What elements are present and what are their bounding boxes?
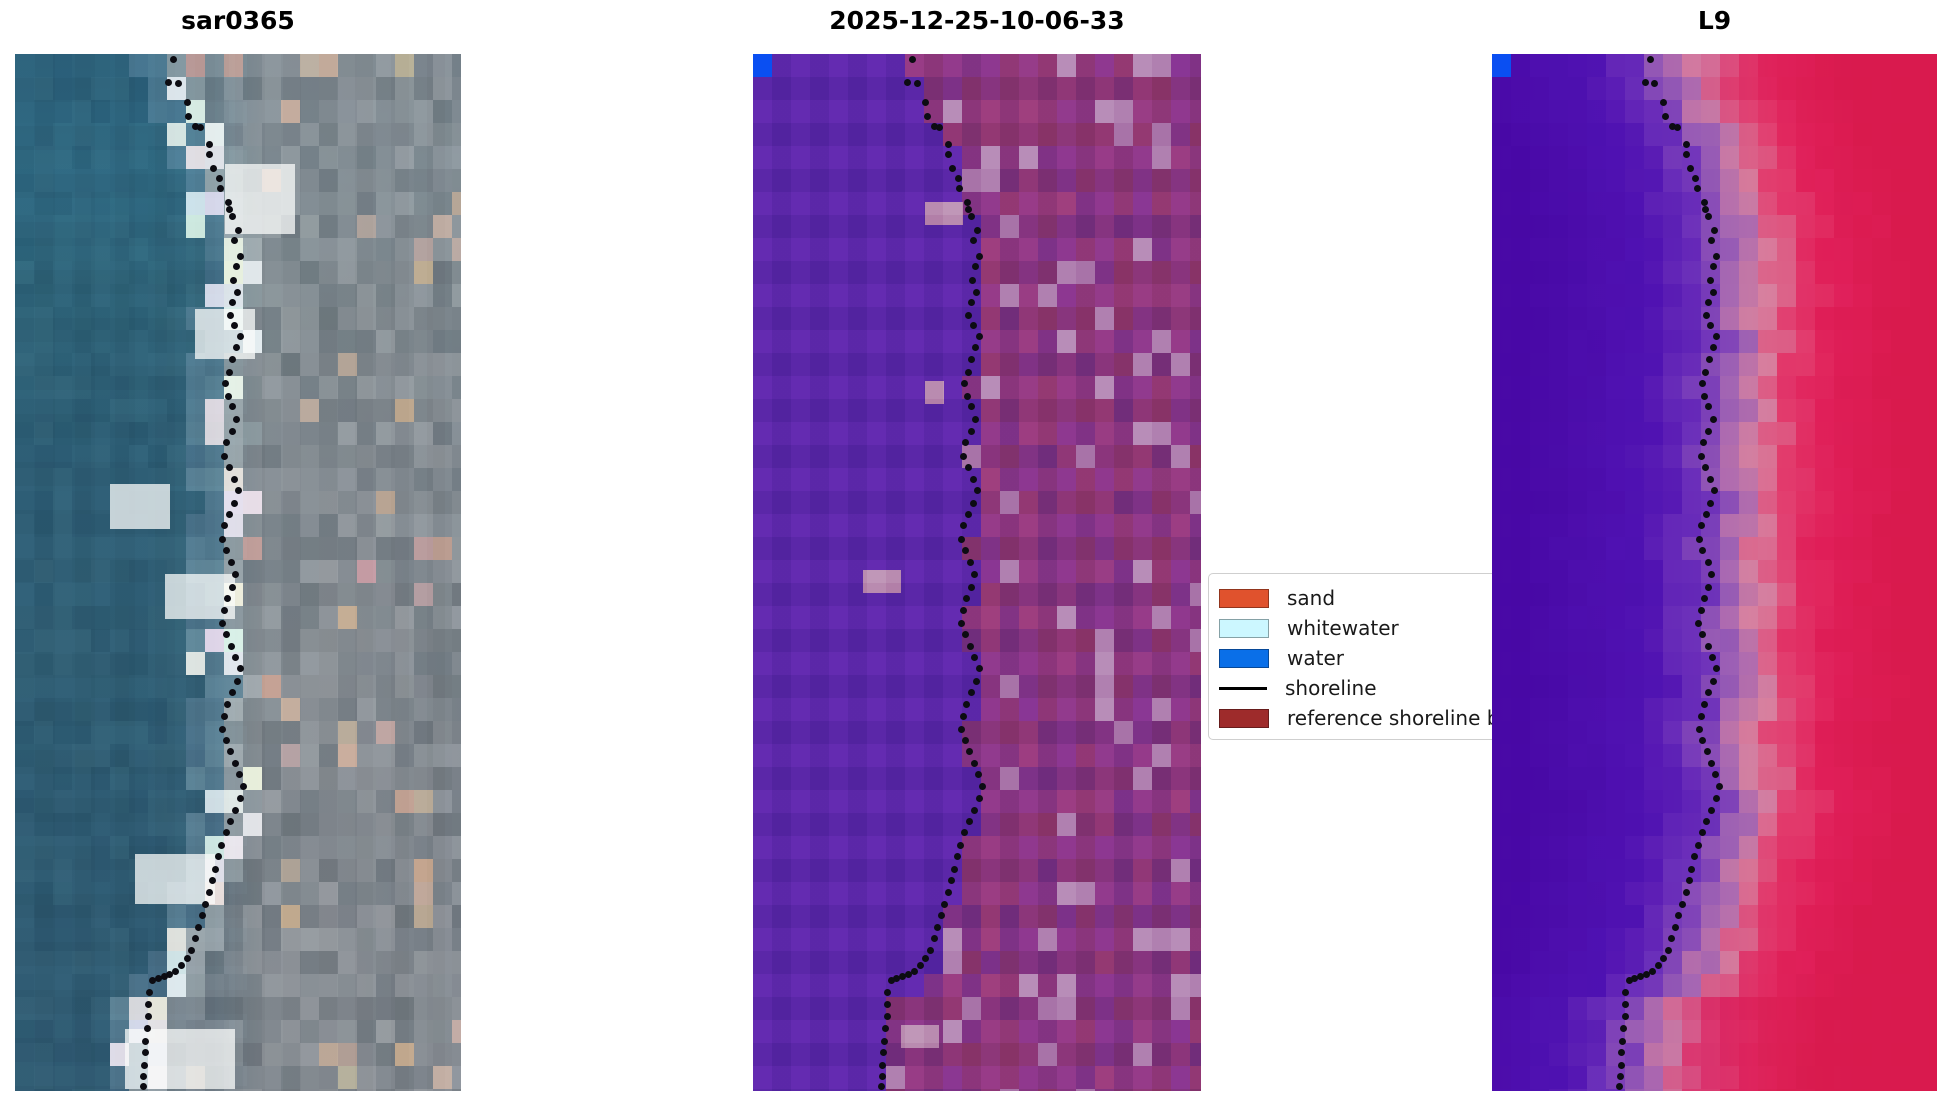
legend-swatch-whitewater <box>1219 619 1269 638</box>
legend-label-whitewater: whitewater <box>1287 616 1399 640</box>
panel-index-heatmap[interactable] <box>1492 54 1937 1091</box>
shoreline-trace-index <box>1492 54 1937 1091</box>
legend-label-water: water <box>1287 646 1344 670</box>
legend-swatch-sand <box>1219 589 1269 608</box>
legend-label-shoreline: shoreline <box>1285 676 1377 700</box>
panel-rgb-satellite[interactable] <box>15 54 461 1091</box>
legend-label-sand: sand <box>1287 586 1335 610</box>
legend-swatch-reference-shoreline-buffer <box>1219 709 1269 728</box>
shoreline-trace-rgb <box>15 54 461 1091</box>
panel-classification[interactable] <box>753 54 1201 1091</box>
panel-title-rgb: sar0365 <box>15 8 461 33</box>
legend-label-reference-shoreline-buffer: reference shoreline b <box>1287 706 1499 730</box>
figure-canvas: sar0365 2025-12-25-10-06-33 L9 sand whit… <box>0 0 1952 1108</box>
panel-title-classification: 2025-12-25-10-06-33 <box>753 8 1201 33</box>
legend-line-shoreline <box>1219 687 1267 690</box>
panel-title-index: L9 <box>1492 8 1937 33</box>
legend-swatch-water <box>1219 649 1269 668</box>
shoreline-trace-classification <box>753 54 1201 1091</box>
